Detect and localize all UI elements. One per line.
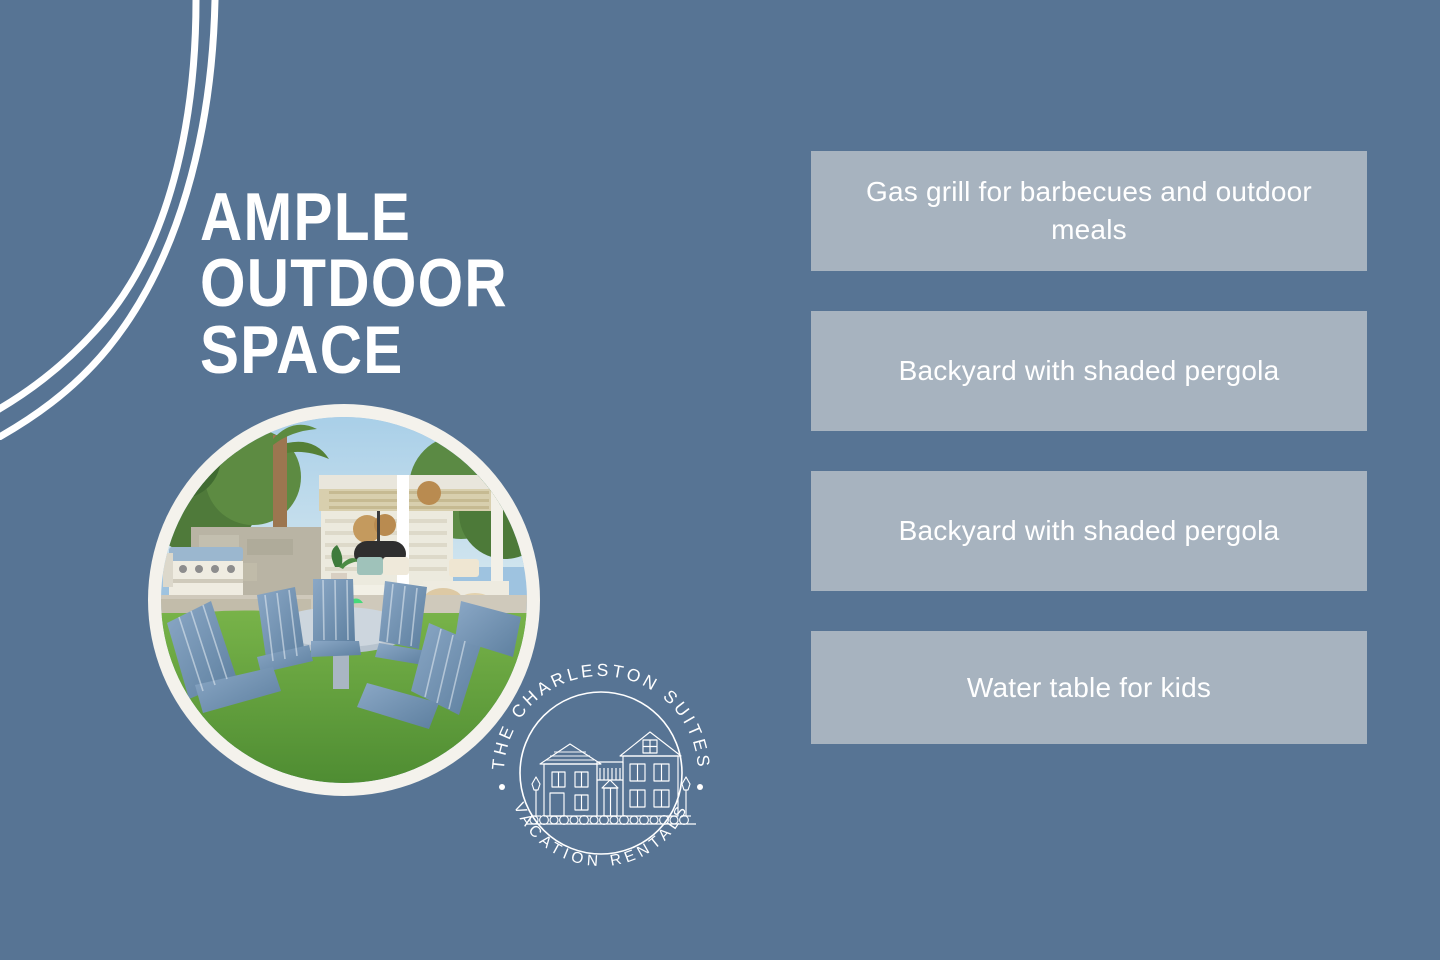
page-title: AMPLE OUTDOOR SPACE [200,184,682,384]
feature-list: Gas grill for barbecues and outdoor meal… [811,151,1367,744]
arc-outer-icon [0,0,196,412]
house-illustration-icon [526,732,696,824]
logo-bottom-text: VACATION RENTALS [510,800,692,870]
feature-card-3[interactable]: Backyard with shaded pergola [811,471,1367,591]
slide-canvas: AMPLE OUTDOOR SPACE [0,0,1440,960]
feature-card-1[interactable]: Gas grill for barbecues and outdoor meal… [811,151,1367,271]
brand-logo: THE CHARLESTON SUITES VACATION RENTALS [484,656,718,890]
arc-inner-icon [0,0,215,440]
feature-card-2-label: Backyard with shaded pergola [899,352,1280,390]
logo-dot-right-icon [697,784,703,790]
feature-card-1-label: Gas grill for barbecues and outdoor meal… [845,173,1333,249]
feature-card-4[interactable]: Water table for kids [811,631,1367,744]
backyard-photo [161,417,527,783]
photo-frame [148,404,540,796]
logo-dot-left-icon [499,784,505,790]
feature-card-4-label: Water table for kids [967,669,1211,707]
feature-card-3-label: Backyard with shaded pergola [899,512,1280,550]
feature-card-2[interactable]: Backyard with shaded pergola [811,311,1367,431]
